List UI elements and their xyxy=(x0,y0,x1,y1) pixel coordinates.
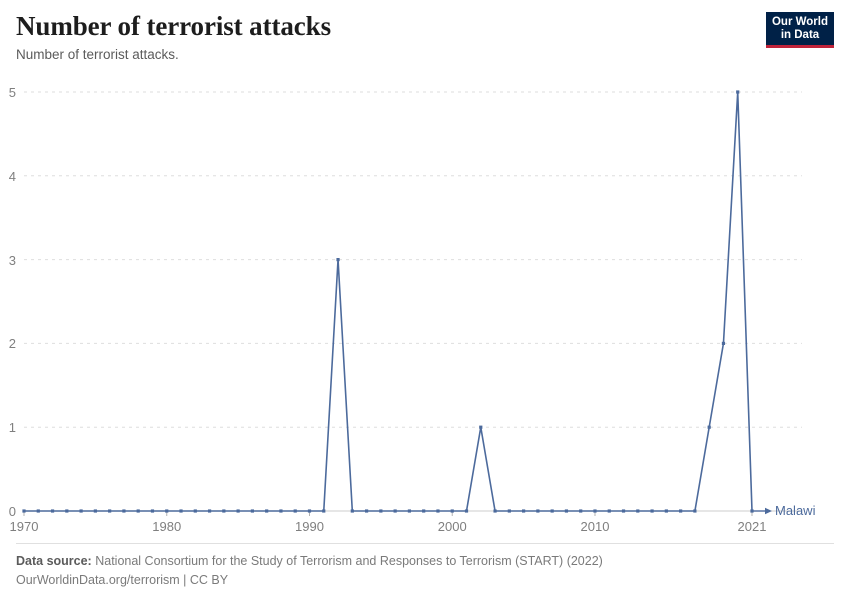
x-tick-label-1990: 1990 xyxy=(279,520,339,533)
series-markers-0 xyxy=(22,90,753,512)
gridlines xyxy=(24,92,802,427)
owid-logo[interactable]: Our World in Data xyxy=(766,12,834,48)
series-end-arrow-0 xyxy=(765,508,772,514)
page-title: Number of terrorist attacks xyxy=(16,10,834,42)
y-tick-label-1: 1 xyxy=(0,421,16,434)
y-tick-label-2: 2 xyxy=(0,337,16,350)
x-tick-label-2000: 2000 xyxy=(422,520,482,533)
x-tick-label-2021: 2021 xyxy=(722,520,782,533)
y-tick-label-0: 0 xyxy=(0,505,16,518)
y-tick-label-4: 4 xyxy=(0,170,16,183)
x-tick-label-1970: 1970 xyxy=(0,520,54,533)
x-tick-label-2010: 2010 xyxy=(565,520,625,533)
chart-footer: Data source: National Consortium for the… xyxy=(16,543,834,590)
plot-area: 012345 197019801990200020102021 Malawi xyxy=(0,80,850,540)
y-tick-label-3: 3 xyxy=(0,254,16,267)
footer-attribution[interactable]: OurWorldinData.org/terrorism | CC BY xyxy=(16,571,834,590)
owid-logo-line2: in Data xyxy=(781,29,819,42)
series-label-malawi[interactable]: Malawi xyxy=(775,504,815,517)
chart-subtitle: Number of terrorist attacks. xyxy=(16,46,834,64)
x-tick-label-1980: 1980 xyxy=(137,520,197,533)
owid-logo-line1: Our World xyxy=(772,16,828,29)
series-line-0 xyxy=(24,92,752,511)
y-tick-label-5: 5 xyxy=(0,86,16,99)
line-chart-svg xyxy=(0,80,850,540)
footer-source-label: Data source: xyxy=(16,554,92,568)
chart-root: Number of terrorist attacks Number of te… xyxy=(0,0,850,600)
footer-source-text: National Consortium for the Study of Ter… xyxy=(95,554,603,568)
chart-header: Number of terrorist attacks Number of te… xyxy=(16,10,834,70)
footer-source-line: Data source: National Consortium for the… xyxy=(16,552,834,571)
